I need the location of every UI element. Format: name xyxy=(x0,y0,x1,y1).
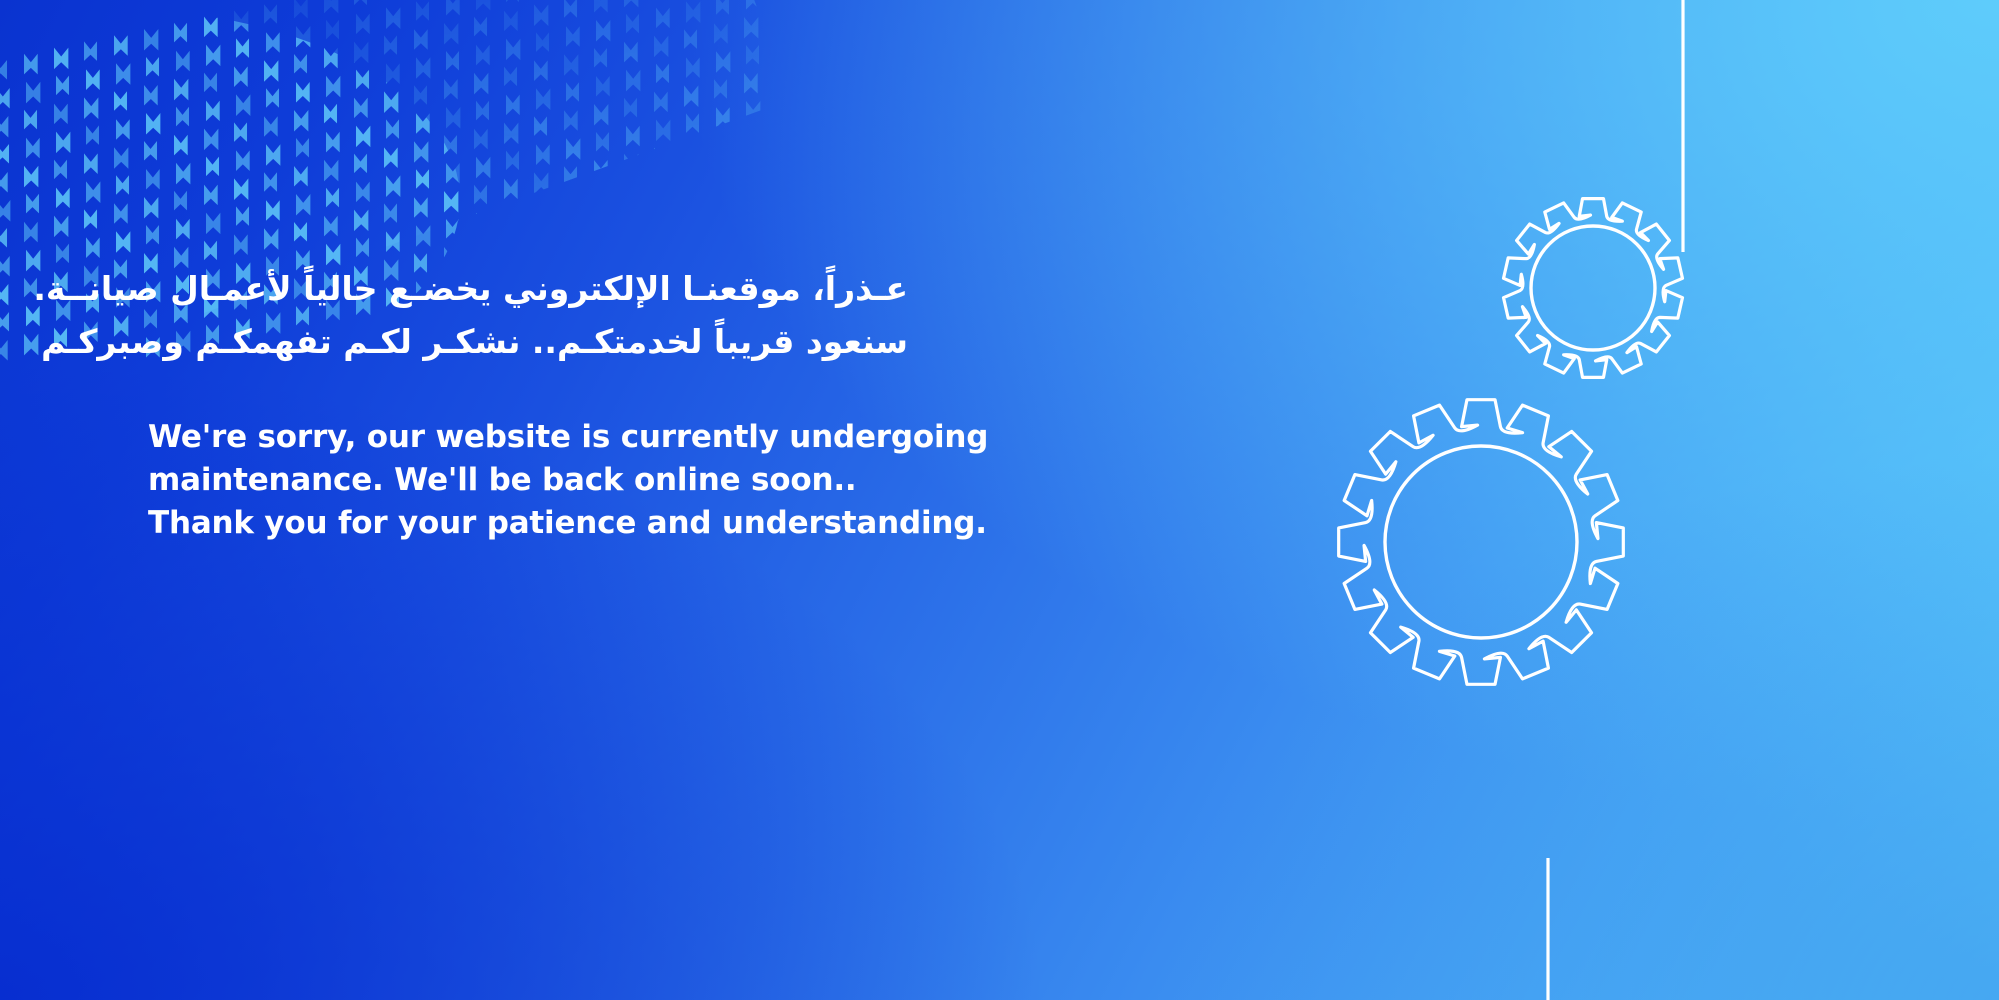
english-line-3: Thank you for your patience and understa… xyxy=(148,502,908,545)
arabic-line-2: سنعود قريباً لخدمتكـم.. نشكـر لكـم تفهمك… xyxy=(148,315,908,368)
arabic-message: عـذراً، موقعنـا الإلكتروني يخضـع حالياً … xyxy=(148,262,908,368)
arabic-line-1: عـذراً، موقعنـا الإلكتروني يخضـع حالياً … xyxy=(148,262,908,315)
english-line-1: We're sorry, our website is currently un… xyxy=(148,416,908,459)
maintenance-page: عـذراً، موقعنـا الإلكتروني يخضـع حالياً … xyxy=(0,0,1999,1000)
english-line-2: maintenance. We'll be back online soon.. xyxy=(148,459,908,502)
english-message: We're sorry, our website is currently un… xyxy=(148,416,908,545)
maintenance-message: عـذراً، موقعنـا الإلكتروني يخضـع حالياً … xyxy=(148,262,908,545)
